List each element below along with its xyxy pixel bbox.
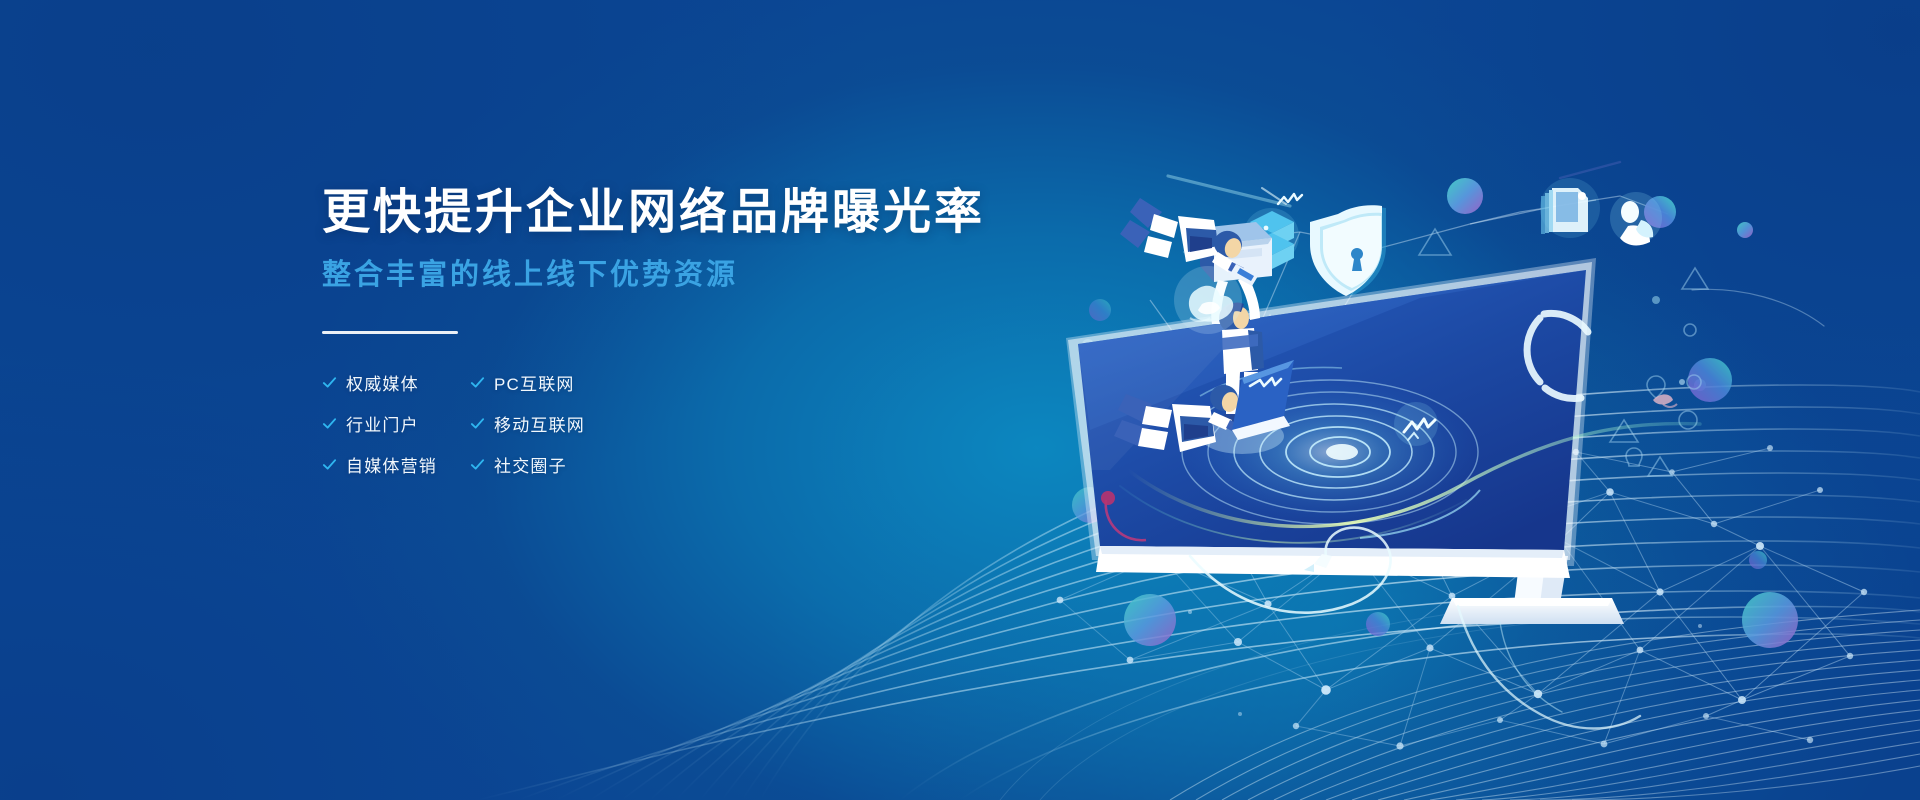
check-icon <box>470 416 485 431</box>
list-item-label: 自媒体营销 <box>346 452 437 477</box>
list-item-label: 行业门户 <box>346 411 419 436</box>
list-item-label: PC互联网 <box>494 370 575 395</box>
page-subtitle: 整合丰富的线上线下优势资源 <box>322 258 1042 293</box>
banner-stage: 更快提升企业网络品牌曝光率 整合丰富的线上线下优势资源 权威媒体 PC互联网 <box>0 0 1920 800</box>
list-item-label: 移动互联网 <box>494 411 585 436</box>
check-icon <box>322 457 337 472</box>
list-item: 自媒体营销 <box>322 452 470 477</box>
divider <box>322 331 458 334</box>
list-item: 社交圈子 <box>470 452 1042 477</box>
check-icon <box>322 375 337 390</box>
list-item-label: 社交圈子 <box>494 452 567 477</box>
check-icon <box>470 375 485 390</box>
list-item-label: 权威媒体 <box>346 370 419 395</box>
check-icon <box>322 416 337 431</box>
list-item: 权威媒体 <box>322 370 470 395</box>
banner-copy: 更快提升企业网络品牌曝光率 整合丰富的线上线下优势资源 权威媒体 PC互联网 <box>322 186 1042 477</box>
list-item: 移动互联网 <box>470 411 1042 436</box>
list-item: PC互联网 <box>470 370 1042 395</box>
feature-list: 权威媒体 PC互联网 行业门户 移动互联网 <box>322 370 1042 477</box>
list-item: 行业门户 <box>322 411 470 436</box>
check-icon <box>470 457 485 472</box>
page-title: 更快提升企业网络品牌曝光率 <box>322 186 1042 240</box>
